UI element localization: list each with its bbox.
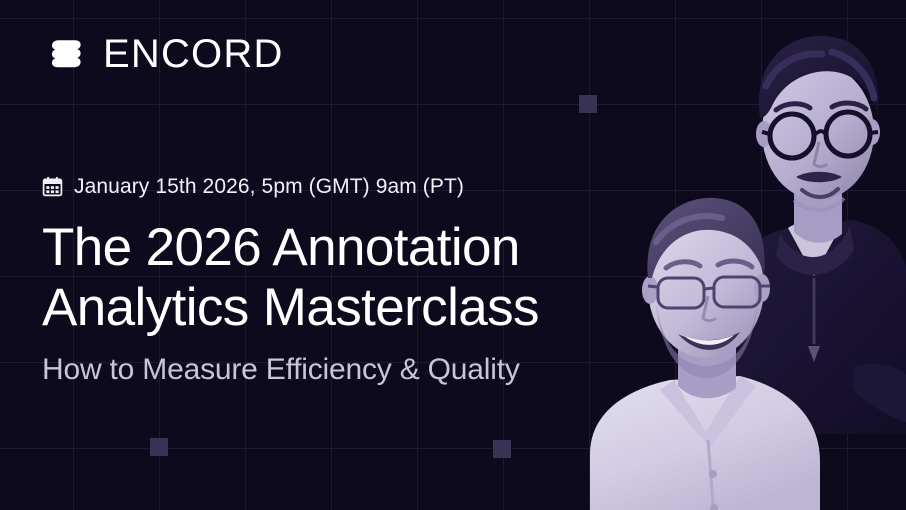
event-date-text: January 15th 2026, 5pm (GMT) 9am (PT) <box>74 176 464 197</box>
webinar-promo-banner: ENCORD January 15th 2026, 5pm (GMT) 9am … <box>0 0 906 510</box>
title-line-2: Analytics Masterclass <box>42 278 652 338</box>
title-line-1: The 2026 Annotation <box>42 218 652 278</box>
page-title: The 2026 Annotation Analytics Masterclas… <box>42 218 652 338</box>
encord-stacked-bars-logo-icon <box>42 30 90 78</box>
calendar-icon <box>42 176 63 197</box>
page-subtitle: How to Measure Efficiency & Quality <box>42 352 520 388</box>
encord-wordmark: ENCORD <box>103 34 284 74</box>
encord-logo[interactable]: ENCORD <box>42 30 284 78</box>
event-date-row: January 15th 2026, 5pm (GMT) 9am (PT) <box>42 176 464 197</box>
speaker-portrait-back <box>702 14 906 434</box>
banner-content: ENCORD January 15th 2026, 5pm (GMT) 9am … <box>42 0 642 510</box>
